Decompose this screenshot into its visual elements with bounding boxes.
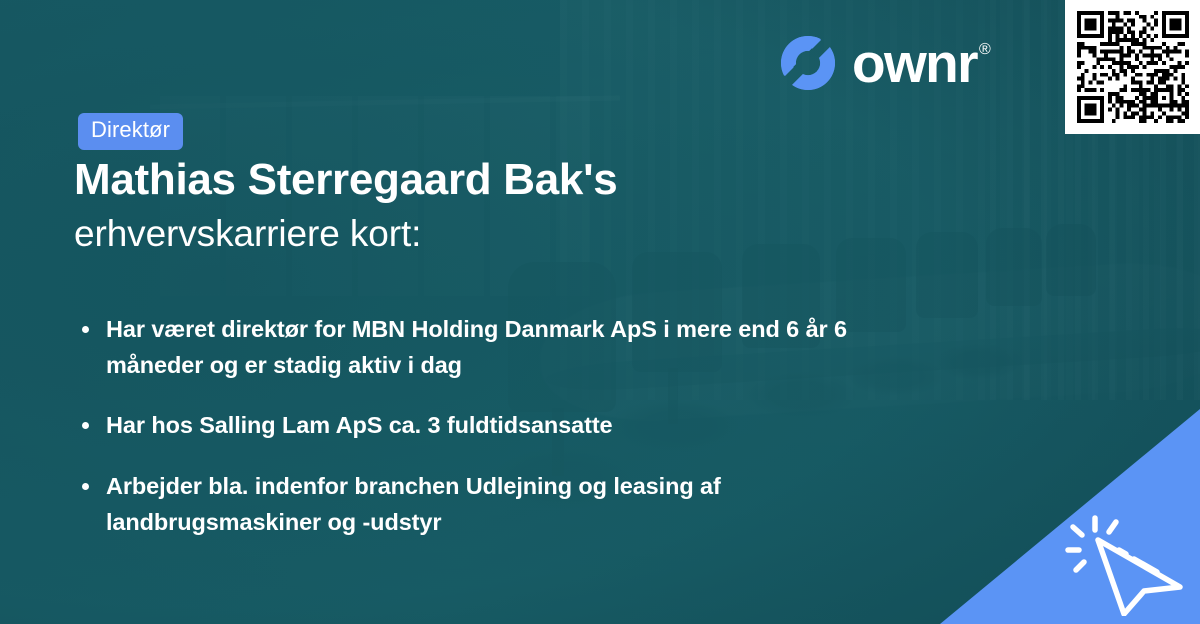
bullet-icon — [82, 422, 89, 429]
list-item-label: Har hos Salling Lam ApS ca. 3 fuldtidsan… — [106, 412, 613, 438]
list-item-label: Arbejder bla. indenfor branchen Udlejnin… — [106, 473, 721, 535]
page-subtitle: erhvervskarriere kort: — [74, 211, 1024, 256]
ownr-wordmark-text: ownr — [852, 36, 977, 91]
list-item: Arbejder bla. indenfor branchen Udlejnin… — [76, 469, 906, 540]
ownr-circle-swoosh-icon — [779, 34, 837, 92]
role-badge: Direktør — [78, 113, 183, 150]
page-title: Mathias Sterregaard Bak's — [74, 155, 1024, 205]
click-cursor-icon — [1062, 496, 1192, 616]
career-facts-list: Har været direktør for MBN Holding Danma… — [76, 312, 906, 541]
card-content: Direktør Mathias Sterregaard Bak's erhve… — [0, 0, 1200, 624]
list-item: Har hos Salling Lam ApS ca. 3 fuldtidsan… — [76, 408, 906, 444]
ownr-logo[interactable]: ownr ® — [779, 34, 991, 92]
qr-code-panel[interactable] — [1065, 0, 1200, 134]
business-profile-card: Direktør Mathias Sterregaard Bak's erhve… — [0, 0, 1200, 624]
registered-trademark-icon: ® — [979, 42, 991, 58]
ownr-wordmark: ownr ® — [852, 36, 991, 91]
qr-code-icon[interactable] — [1077, 11, 1189, 123]
list-item-label: Har været direktør for MBN Holding Danma… — [106, 316, 847, 378]
headline-block: Mathias Sterregaard Bak's erhvervskarrie… — [74, 155, 1024, 256]
bullet-icon — [82, 483, 89, 490]
bullet-icon — [82, 326, 89, 333]
list-item: Har været direktør for MBN Holding Danma… — [76, 312, 906, 383]
